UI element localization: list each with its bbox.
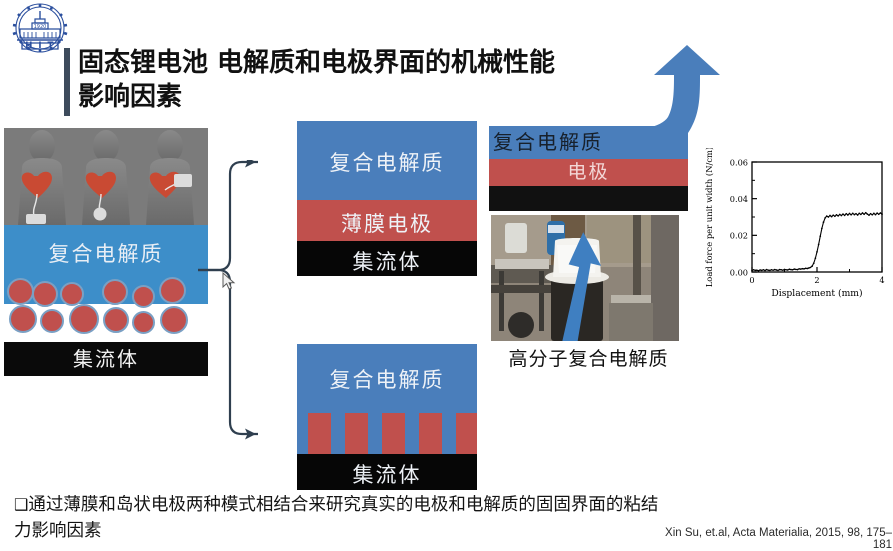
data-point [772,269,774,271]
data-point [792,269,794,271]
bullet-text: 通过薄膜和岛状电极两种模式相结合来研究真实的电极和电解质的固固界面的粘结力影响因… [14,495,658,541]
data-point [818,244,820,246]
data-series-line [752,213,882,271]
data-point [873,212,875,214]
left-composite-panel: 复合电解质 集流体 [4,128,208,376]
data-point [845,213,847,215]
particle-cluster [4,276,208,344]
data-point [867,213,869,215]
title-line-2: 影响因素 [78,80,678,114]
data-point [754,270,756,272]
data-point [862,212,864,214]
data-point [875,214,877,216]
data-point [837,215,839,217]
slide-canvas: 1920 H I T 固态锂电池 电解质和电极界面的机械性能 影响因素 [0,0,893,549]
data-point [868,214,870,216]
data-point [852,212,854,214]
island-electrode [308,413,331,454]
particle [40,309,64,333]
data-point [878,213,880,215]
data-point [832,214,834,216]
data-point [857,214,859,216]
logo-year: 1920 [34,24,47,30]
thin-film-electrode-panel: 复合电解质 薄膜电极 集流体 [297,121,477,276]
data-point [815,257,817,259]
citation: Xin Su, et.al, Acta Materialia, 2015, 98… [660,527,892,551]
data-point [751,270,753,272]
bullet-marker: ❑ [14,495,28,514]
rp-electrode-layer: 电极 [489,159,688,186]
data-point [790,269,792,271]
left-current-collector-label: 集流体 [4,342,208,376]
data-point [763,269,765,271]
data-point [761,270,763,272]
data-point [802,268,804,270]
data-point [823,221,825,223]
rp-electrolyte-label: 复合电解质 [489,126,688,159]
data-point [844,215,846,217]
y-tick-label: 0.00 [730,267,748,277]
mt-electrolyte-label: 复合电解质 [297,147,477,177]
data-point [798,268,800,270]
title-line-1: 固态锂电池 电解质和电极界面的机械性能 [78,48,555,78]
data-point [756,269,758,271]
y-tick-label: 0.02 [730,231,748,241]
island-electrode [382,413,405,454]
island-electrode [345,413,368,454]
data-point [793,268,795,270]
particle [32,281,58,307]
data-point [800,268,802,270]
rp-substrate-layer [489,186,688,211]
data-point [881,213,883,215]
data-point [779,269,781,271]
logo-text: H I T [25,41,55,51]
data-point [821,228,823,230]
data-point [880,212,882,214]
mb-electrolyte-label: 复合电解质 [297,364,477,394]
data-point [771,269,773,271]
particle [103,307,129,333]
data-point [811,265,813,267]
data-point [828,216,830,218]
data-point [769,270,771,272]
data-point [854,214,856,216]
rp-electrolyte-layer: 复合电解质 [489,126,688,159]
mb-electrolyte-layer: 复合电解质 [297,344,477,454]
data-point [824,217,826,219]
particle [69,304,99,334]
data-point [826,215,828,217]
mb-current-collector-label: 集流体 [297,459,477,489]
data-point [776,269,778,271]
y-tick-label: 0.04 [730,194,748,204]
particle [7,278,34,305]
mt-electrode-layer: 薄膜电极 [297,200,477,241]
data-point [808,267,810,269]
data-point [810,267,812,269]
data-point [850,214,852,216]
data-point [789,268,791,270]
data-point [813,262,815,264]
data-point [797,269,799,271]
data-point [842,213,844,215]
particle [60,282,84,306]
data-point [836,214,838,216]
mt-electrode-label: 薄膜电极 [297,208,477,238]
particle [132,311,155,334]
right-experiment-panel: 复合电解质 电极 [489,126,688,372]
particle [132,285,155,308]
mt-electrolyte-layer: 复合电解质 [297,121,477,200]
data-point [795,269,797,271]
data-point [816,251,818,253]
x-axis-label: Displacement (mm) [771,288,862,299]
y-axis-label: Load force per unit width (N/cm) [704,148,714,287]
data-point [871,214,873,216]
x-tick-label: 4 [879,275,884,285]
y-tick-label: 0.06 [730,157,748,167]
data-point [785,269,787,271]
data-point [764,270,766,272]
data-point [849,213,851,215]
data-point [758,270,760,272]
data-point [858,212,860,214]
data-point [829,215,831,217]
data-point [855,213,857,215]
data-point [819,235,821,237]
pacemaker-photo [4,128,208,225]
data-point [784,269,786,271]
rp-electrode-label: 电极 [489,159,688,186]
left-current-collector-layer: 集流体 [4,342,208,376]
page-title: 固态锂电池 电解质和电极界面的机械性能 影响因素 [78,46,678,114]
title-accent-bar [64,48,70,116]
data-point [759,269,761,271]
data-point [780,269,782,271]
particle [102,279,128,305]
island-electrode [419,413,442,454]
data-point [777,270,779,272]
x-tick-label: 2 [814,275,819,285]
data-point [805,267,807,269]
particle [160,306,188,334]
lab-photo [491,215,679,341]
data-point [766,269,768,271]
data-point [865,212,867,214]
x-tick-label: 0 [749,275,754,285]
particle [159,277,186,304]
island-electrode [456,413,477,454]
data-point [831,216,833,218]
mouse-cursor-icon [222,272,238,292]
particle [9,305,37,333]
summary-bullet: ❑通过薄膜和岛状电极两种模式相结合来研究真实的电极和电解质的固固界面的粘结力影响… [14,492,674,544]
data-point [860,214,862,216]
mt-current-collector-layer: 集流体 [297,241,477,276]
right-panel-caption: 高分子复合电解质 [489,344,688,371]
data-point [847,214,849,216]
data-point [753,269,755,271]
data-point [876,212,878,214]
photo-annotation-arrow-icon [491,215,679,341]
data-point [841,215,843,217]
data-point [834,215,836,217]
data-point [774,269,776,271]
data-point [806,268,808,270]
peel-force-chart: 0.000.020.040.06024Displacement (mm)Load… [700,148,891,315]
mb-current-collector-layer: 集流体 [297,454,477,490]
data-point [870,213,872,215]
data-point [839,214,841,216]
mt-current-collector-label: 集流体 [297,246,477,276]
data-point [863,213,865,215]
data-point [782,269,784,271]
data-point [787,269,789,271]
data-point [767,269,769,271]
data-point [803,268,805,270]
island-electrode-panel: 复合电解质 集流体 [297,344,477,490]
